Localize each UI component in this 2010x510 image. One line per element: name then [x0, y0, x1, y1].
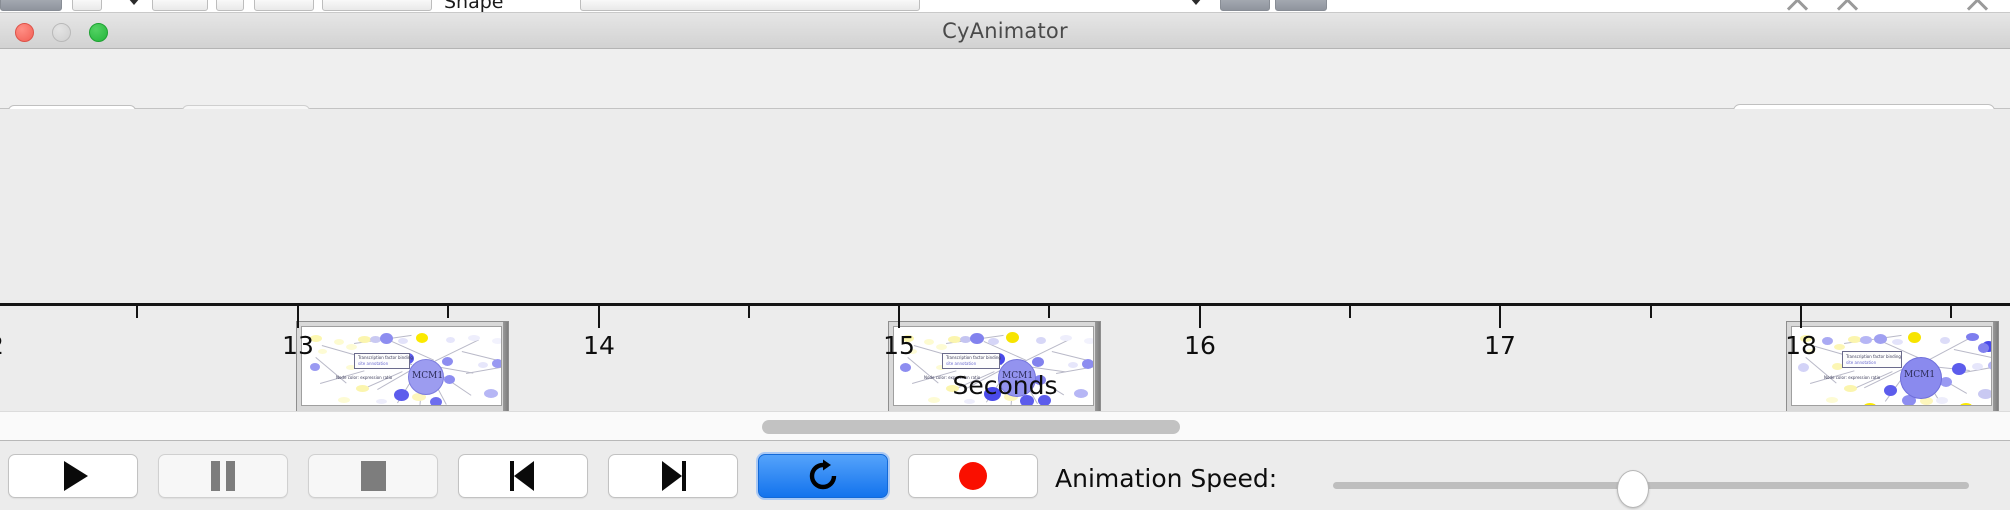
pause-button[interactable] — [158, 454, 288, 498]
bg-chip — [254, 0, 314, 11]
window-title: CyAnimator — [0, 13, 2010, 49]
animation-speed-slider-thumb[interactable] — [1617, 470, 1649, 508]
tick-minor — [1048, 306, 1050, 318]
animation-speed-slider[interactable] — [1333, 482, 1969, 489]
tick-minor — [1650, 306, 1652, 318]
skip-start-button[interactable] — [458, 454, 588, 498]
tick-major — [1499, 306, 1501, 328]
tick-minor — [447, 306, 449, 318]
tick-minor — [748, 306, 750, 318]
title-bar: CyAnimator — [0, 13, 2010, 49]
tick-label: 2 — [0, 331, 4, 360]
skip-start-icon — [510, 461, 536, 491]
tick-label: 14 — [583, 331, 615, 360]
bg-chip — [216, 0, 244, 11]
stop-icon — [361, 461, 386, 491]
bg-chip — [72, 0, 102, 11]
tick-minor — [1349, 306, 1351, 318]
skip-end-button[interactable] — [608, 454, 738, 498]
tick-major — [598, 306, 600, 328]
timeline-panel[interactable]: Transcription factor binding site annota… — [0, 109, 2010, 411]
bg-chip — [580, 0, 920, 11]
bg-chip — [0, 0, 62, 11]
frame-toolbar: Clear All Frames — [0, 49, 2010, 109]
timeline-horizontal-scrollbar[interactable] — [0, 411, 2010, 441]
timeline-axis-line — [0, 303, 2010, 306]
record-button[interactable] — [908, 454, 1038, 498]
bg-caret-icon — [128, 0, 140, 5]
bg-caret-icon — [1190, 0, 1202, 5]
timeline-axis-title: Seconds — [0, 371, 2010, 400]
pause-icon — [211, 461, 235, 491]
record-icon — [959, 462, 987, 490]
tick-label: 16 — [1184, 331, 1216, 360]
stop-button[interactable] — [308, 454, 438, 498]
scrollbar-thumb[interactable] — [762, 420, 1180, 434]
play-button[interactable] — [8, 454, 138, 498]
tick-label: 15 — [883, 331, 915, 360]
tick-major — [1800, 306, 1802, 328]
tick-major — [1199, 306, 1201, 328]
background-window-strip: Shape — [0, 0, 2010, 13]
loop-button[interactable] — [758, 454, 888, 498]
tick-major — [297, 306, 299, 328]
bg-chip — [152, 0, 208, 11]
tick-label: 13 — [282, 331, 314, 360]
bg-chip — [1275, 0, 1327, 11]
tick-label: 18 — [1785, 331, 1817, 360]
tick-minor — [1950, 306, 1952, 318]
bg-chip — [322, 0, 432, 11]
playback-toolbar: Animation Speed: — [0, 442, 2010, 510]
bg-chip — [1220, 0, 1270, 11]
cyanimator-window: Shape CyAnimator Clear All Frames — [0, 0, 2010, 510]
loop-icon — [806, 459, 840, 493]
play-icon — [64, 461, 88, 491]
tick-major — [898, 306, 900, 328]
tick-minor — [136, 306, 138, 318]
animation-speed-label: Animation Speed: — [1055, 464, 1277, 493]
tick-label: 17 — [1484, 331, 1516, 360]
skip-end-icon — [660, 461, 686, 491]
